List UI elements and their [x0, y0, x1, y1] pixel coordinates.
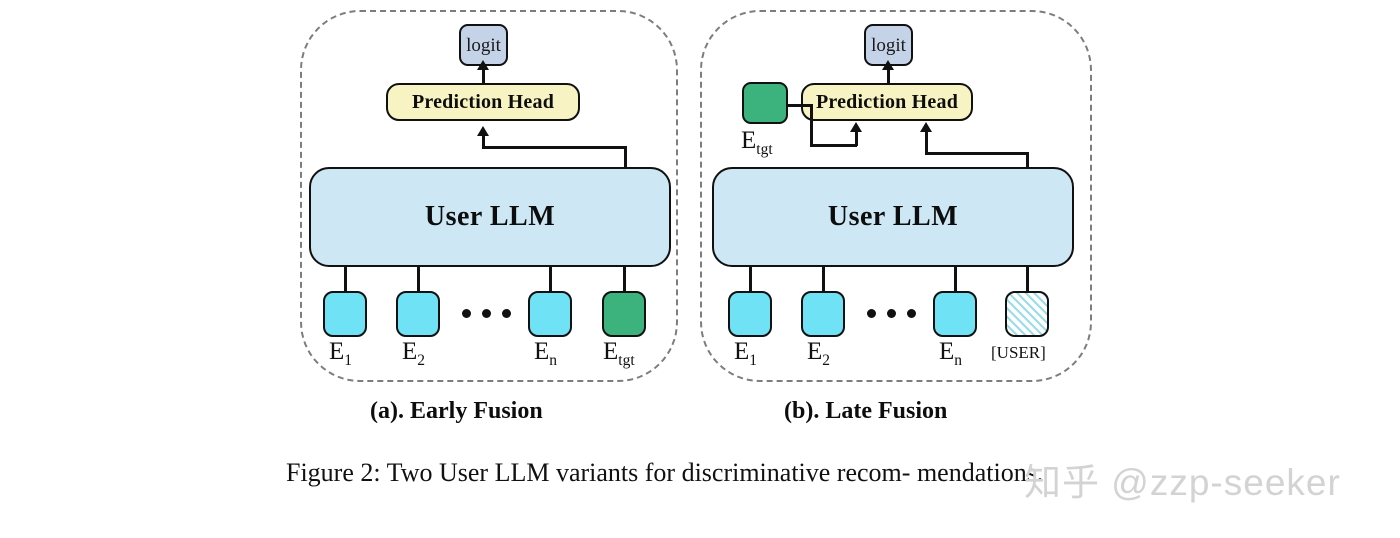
prediction-head-early: Prediction Head	[386, 83, 580, 121]
connector-llm-into-predhead-late	[925, 130, 928, 154]
user-llm-label-early: User LLM	[425, 203, 555, 231]
embedding-label-2-early-base: E	[402, 338, 417, 365]
arrowhead-predhead-tgt-late	[850, 122, 862, 132]
embedding-label-n-late-base: E	[939, 338, 954, 365]
connector-llm-horizontal-late	[925, 152, 1029, 155]
stem-token-1-early	[344, 267, 347, 291]
embedding-label-2-late-base: E	[807, 338, 822, 365]
embedding-box-1-late	[728, 291, 772, 337]
embedding-label-1-late-base: E	[734, 338, 749, 365]
arrowhead-predhead-early	[477, 126, 489, 136]
subcaption-early-fusion: (a). Early Fusion	[370, 398, 543, 425]
connector-tgt-bottom-late	[810, 144, 857, 147]
embedding-label-1-early: E1	[329, 339, 352, 369]
logit-label-early: logit	[466, 36, 501, 55]
embedding-box-user-token-late	[1005, 291, 1049, 337]
embedding-box-1-early	[323, 291, 367, 337]
embedding-label-tgt-early: Etgt	[603, 339, 635, 369]
embedding-label-n-early-sub: n	[549, 352, 557, 369]
embedding-label-tgt-late-base: E	[741, 127, 756, 154]
stem-token-tgt-early	[623, 267, 626, 291]
embedding-label-2-early-sub: 2	[417, 352, 425, 369]
arrowhead-logit-early	[477, 60, 489, 70]
embedding-label-n-late-sub: n	[954, 352, 962, 369]
connector-tgt-horizontal-late	[788, 104, 812, 107]
embedding-box-tgt-early	[602, 291, 646, 337]
user-llm-label-late: User LLM	[828, 203, 958, 231]
stem-token-n-early	[549, 267, 552, 291]
figure-2-diagram: logit Prediction Head User LLM E1 E2 En …	[0, 0, 1400, 538]
figure-caption: Figure 2: Two User LLM variants for disc…	[286, 455, 1086, 491]
embedding-label-2-early: E2	[402, 339, 425, 369]
embedding-box-n-early	[528, 291, 572, 337]
embedding-label-n-early-base: E	[534, 338, 549, 365]
user-llm-early: User LLM	[309, 167, 671, 267]
embedding-label-n-late: En	[939, 339, 962, 369]
connector-llm-riser-early	[624, 146, 627, 168]
connector-into-predhead-early	[482, 134, 485, 148]
embedding-label-tgt-early-sub: tgt	[618, 352, 634, 369]
embedding-box-2-early	[396, 291, 440, 337]
watermark: 知乎 @zzp-seeker	[1024, 452, 1341, 506]
embedding-box-tgt-late	[742, 82, 788, 124]
ellipsis-late	[867, 309, 916, 318]
ellipsis-early	[462, 309, 511, 318]
user-llm-late: User LLM	[712, 167, 1074, 267]
logit-label-late: logit	[871, 36, 906, 55]
stem-token-2-early	[417, 267, 420, 291]
embedding-box-n-late	[933, 291, 977, 337]
prediction-head-label-late: Prediction Head	[816, 92, 958, 112]
subcaption-late-fusion: (b). Late Fusion	[784, 398, 947, 425]
embedding-label-user-token-late: [USER]	[991, 344, 1046, 361]
embedding-label-2-late: E2	[807, 339, 830, 369]
connector-llm-horizontal-early	[482, 146, 627, 149]
figure-caption-line-1: Figure 2: Two User LLM variants for disc…	[286, 458, 910, 487]
connector-tgt-riser-late	[855, 130, 858, 146]
arrowhead-predhead-llm-late	[920, 122, 932, 132]
stem-token-user-late	[1026, 267, 1029, 291]
embedding-label-tgt-early-base: E	[603, 338, 618, 365]
embedding-label-1-late: E1	[734, 339, 757, 369]
embedding-label-1-early-base: E	[329, 338, 344, 365]
embedding-label-1-early-sub: 1	[344, 352, 352, 369]
stem-token-2-late	[822, 267, 825, 291]
connector-tgt-drop-late	[810, 104, 813, 146]
prediction-head-late: Prediction Head	[801, 83, 973, 121]
embedding-label-n-early: En	[534, 339, 557, 369]
embedding-label-tgt-late-sub: tgt	[756, 141, 772, 158]
stem-token-1-late	[749, 267, 752, 291]
stem-token-n-late	[954, 267, 957, 291]
embedding-box-2-late	[801, 291, 845, 337]
embedding-label-tgt-late: Etgt	[741, 128, 773, 158]
arrowhead-logit-late	[882, 60, 894, 70]
embedding-label-1-late-sub: 1	[749, 352, 757, 369]
prediction-head-label-early: Prediction Head	[412, 92, 554, 112]
embedding-label-2-late-sub: 2	[822, 352, 830, 369]
